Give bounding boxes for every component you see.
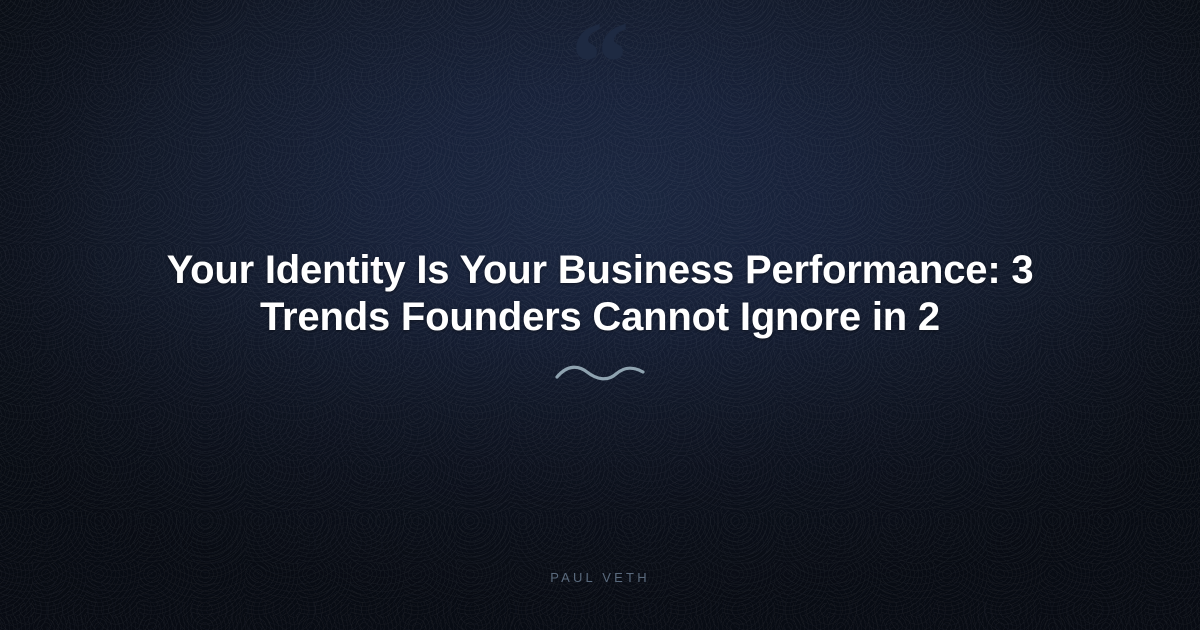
quote-title-container: Your Identity Is Your Business Performan… <box>0 247 1200 341</box>
quote-card: “ Your Identity Is Your Business Perform… <box>0 0 1200 630</box>
wavy-divider <box>0 362 1200 384</box>
page-title: Your Identity Is Your Business Performan… <box>140 247 1060 341</box>
wavy-divider-icon <box>554 362 646 384</box>
author-name: PAUL VETH <box>0 570 1200 585</box>
open-quote-icon: “ <box>0 4 1200 122</box>
